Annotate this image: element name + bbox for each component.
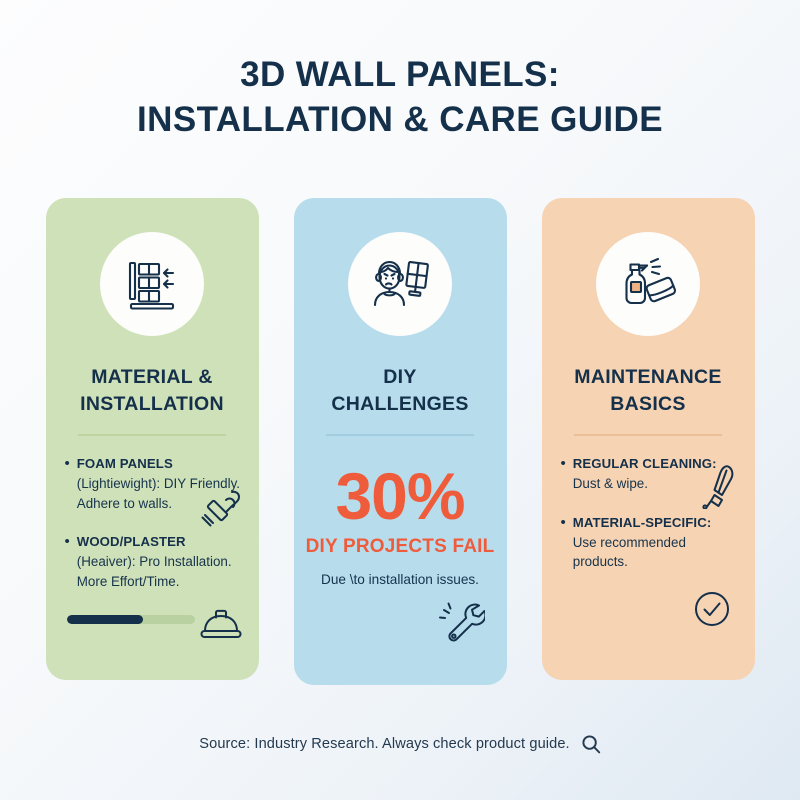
- magnifier-icon[interactable]: [581, 734, 601, 754]
- list-item: • MATERIAL-SPECIFIC: Use recommended pro…: [561, 513, 738, 572]
- bullet-title: WOOD/PLASTER: [77, 532, 242, 551]
- card-bullet-list: • FOAM PANELS (Lightiewight): DIY Friend…: [46, 454, 259, 591]
- footer: Source: Industry Research. Always check …: [0, 734, 800, 754]
- installation-effort-progress: [67, 615, 195, 624]
- wall-panel-install-icon: [121, 253, 183, 315]
- bullet-title: FOAM PANELS: [77, 454, 242, 473]
- hard-hat-icon: [199, 606, 243, 642]
- title-line-2: INSTALLATION & CARE GUIDE: [0, 97, 800, 142]
- bullet-title: REGULAR CLEANING:: [573, 454, 738, 473]
- card-heading-line-1: DIY: [302, 364, 499, 391]
- wrench-icon: [439, 599, 485, 643]
- card-heading-line-1: MATERIAL &: [54, 364, 251, 391]
- stat-number: 30%: [294, 462, 507, 530]
- bullet-dot-icon: •: [65, 532, 70, 591]
- bullet-text: Dust & wipe.: [573, 474, 738, 494]
- card-heading-line-1: MAINTENANCE: [550, 364, 747, 391]
- check-circle-icon: [693, 590, 731, 628]
- card-heading: MATERIAL & INSTALLATION: [46, 364, 259, 418]
- card-icon-circle: [348, 232, 452, 336]
- stat-label: DIY PROJECTS FAIL: [294, 534, 507, 560]
- card-divider: [574, 434, 722, 436]
- progress-fill: [67, 615, 144, 624]
- spray-bottle-sponge-icon: [616, 254, 680, 314]
- page-title: 3D WALL PANELS: INSTALLATION & CARE GUID…: [0, 52, 800, 142]
- bullet-dot-icon: •: [561, 513, 566, 572]
- bullet-text: (Lightiewight): DIY Friendly. Adhere to …: [77, 474, 242, 513]
- bullet-dot-icon: •: [561, 454, 566, 494]
- card-bullet-list: • REGULAR CLEANING: Dust & wipe. • MATER…: [542, 454, 755, 572]
- card-icon-circle: [596, 232, 700, 336]
- stat-block: 30% DIY PROJECTS FAIL Due \to installati…: [294, 462, 507, 590]
- card-heading: MAINTENANCE BASICS: [542, 364, 755, 418]
- card-heading-line-2: BASICS: [550, 391, 747, 418]
- card-material-installation[interactable]: MATERIAL & INSTALLATION • FOAM PANELS (L…: [46, 198, 259, 680]
- frustrated-person-panel-icon: [368, 254, 432, 314]
- bullet-text: (Heaiver): Pro Installation. More Effort…: [77, 552, 242, 591]
- list-item: • WOOD/PLASTER (Heaiver): Pro Installati…: [65, 532, 242, 591]
- card-divider: [326, 434, 474, 436]
- card-divider: [78, 434, 226, 436]
- card-heading-line-2: INSTALLATION: [54, 391, 251, 418]
- bullet-dot-icon: •: [65, 454, 70, 513]
- card-icon-circle: [100, 232, 204, 336]
- card-diy-challenges[interactable]: DIY CHALLENGES 30% DIY PROJECTS FAIL Due…: [294, 198, 507, 685]
- bullet-title: MATERIAL-SPECIFIC:: [573, 513, 738, 532]
- title-line-1: 3D WALL PANELS:: [0, 52, 800, 97]
- list-item: • FOAM PANELS (Lightiewight): DIY Friend…: [65, 454, 242, 513]
- footer-source-text: Source: Industry Research. Always check …: [199, 736, 569, 752]
- card-maintenance-basics[interactable]: MAINTENANCE BASICS • REGULAR CLEANING: D…: [542, 198, 755, 680]
- stat-subtext: Due \to installation issues.: [294, 570, 507, 590]
- card-heading: DIY CHALLENGES: [294, 364, 507, 418]
- card-heading-line-2: CHALLENGES: [302, 391, 499, 418]
- bullet-text: Use recommended products.: [573, 533, 738, 572]
- list-item: • REGULAR CLEANING: Dust & wipe.: [561, 454, 738, 494]
- cards-row: MATERIAL & INSTALLATION • FOAM PANELS (L…: [0, 198, 800, 688]
